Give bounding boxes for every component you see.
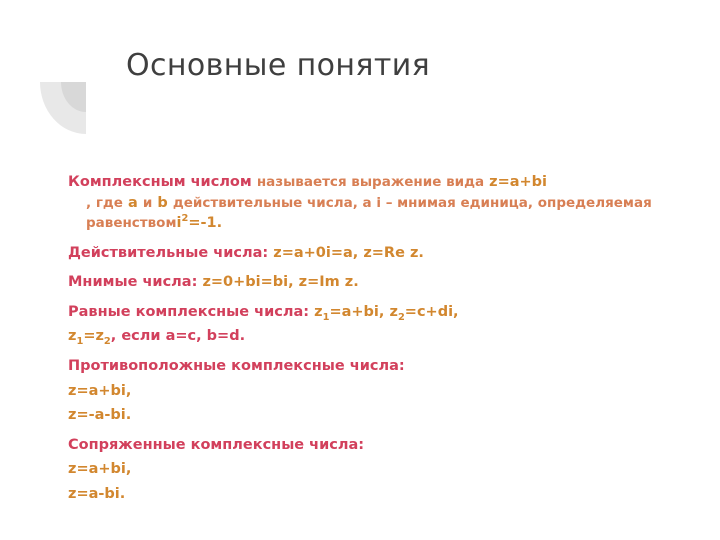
imaginary-numbers-label: Мнимые числа:	[68, 274, 197, 290]
definition-var-a: a	[128, 195, 138, 211]
real-numbers-label: Действительные числа:	[68, 245, 268, 261]
equal-numbers-z1: z	[314, 304, 322, 320]
conjugate-numbers-formula-1: z=a+bi,	[68, 461, 131, 477]
definition-phrase-5: равенством	[86, 215, 176, 231]
real-numbers-formula: z=a+0i=a, z=Re z.	[273, 245, 424, 261]
imaginary-numbers-formula: z=0+bi=bi, z=Im z.	[202, 274, 358, 290]
definition-phrase-3: и	[143, 195, 152, 211]
opposite-numbers-formula-2-line: z=-a-bi.	[68, 405, 668, 426]
condition-rest: , если a=c, b=d.	[111, 328, 245, 344]
opposite-numbers-label-line: Противоположные комплексные числа:	[68, 356, 668, 377]
slide-body: Комплексным числом называется выражение …	[68, 172, 668, 509]
definition-phrase-1: называется выражение вида	[257, 174, 484, 190]
opposite-numbers-formula-1-line: z=a+bi,	[68, 381, 668, 402]
condition-equals: =z	[83, 328, 104, 344]
imaginary-numbers-line: Мнимые числа: z=0+bi=bi, z=Im z.	[68, 272, 668, 293]
opposite-numbers-formula-1: z=a+bi,	[68, 383, 131, 399]
conjugate-numbers-formula-1-line: z=a+bi,	[68, 459, 668, 480]
opposite-numbers-label: Противоположные комплексные числа:	[68, 358, 405, 374]
definition-paragraph: Комплексным числом называется выражение …	[68, 172, 668, 234]
conjugate-numbers-formula-2: z=a-bi.	[68, 486, 125, 502]
definition-formula-2-rest: =-1.	[188, 215, 222, 231]
conjugate-numbers-label: Сопряженные комплексные числа:	[68, 437, 364, 453]
definition-var-b: b	[157, 195, 167, 211]
conjugate-numbers-formula-2-line: z=a-bi.	[68, 484, 668, 505]
equal-numbers-z2: z	[389, 304, 397, 320]
condition-z2-subscript: 2	[104, 336, 111, 347]
equal-numbers-z2-subscript: 2	[398, 312, 405, 323]
page-title: Основные понятия	[126, 48, 430, 83]
definition-term: Комплексным числом	[68, 174, 252, 190]
definition-phrase-4: действительные числа, а i – мнимая едини…	[173, 195, 652, 211]
real-numbers-line: Действительные числа: z=a+0i=a, z=Re z.	[68, 243, 668, 264]
definition-phrase-2: , где	[86, 195, 123, 211]
definition-formula-1: z=a+bi	[489, 174, 547, 190]
equal-numbers-label: Равные комплексные числа:	[68, 304, 309, 320]
slide-canvas: Основные понятия Комплексным числом назы…	[0, 0, 720, 540]
equal-numbers-condition-line: z1=z2, если a=c, b=d.	[68, 326, 668, 347]
equal-numbers-z1-rest: =a+bi,	[329, 304, 384, 320]
quarter-circle-decoration-icon	[40, 82, 86, 134]
equal-numbers-z2-rest: =c+di,	[405, 304, 459, 320]
conjugate-numbers-label-line: Сопряженные комплексные числа:	[68, 435, 668, 456]
equal-numbers-line: Равные комплексные числа: z1=a+bi, z2=c+…	[68, 302, 668, 323]
opposite-numbers-formula-2: z=-a-bi.	[68, 407, 131, 423]
